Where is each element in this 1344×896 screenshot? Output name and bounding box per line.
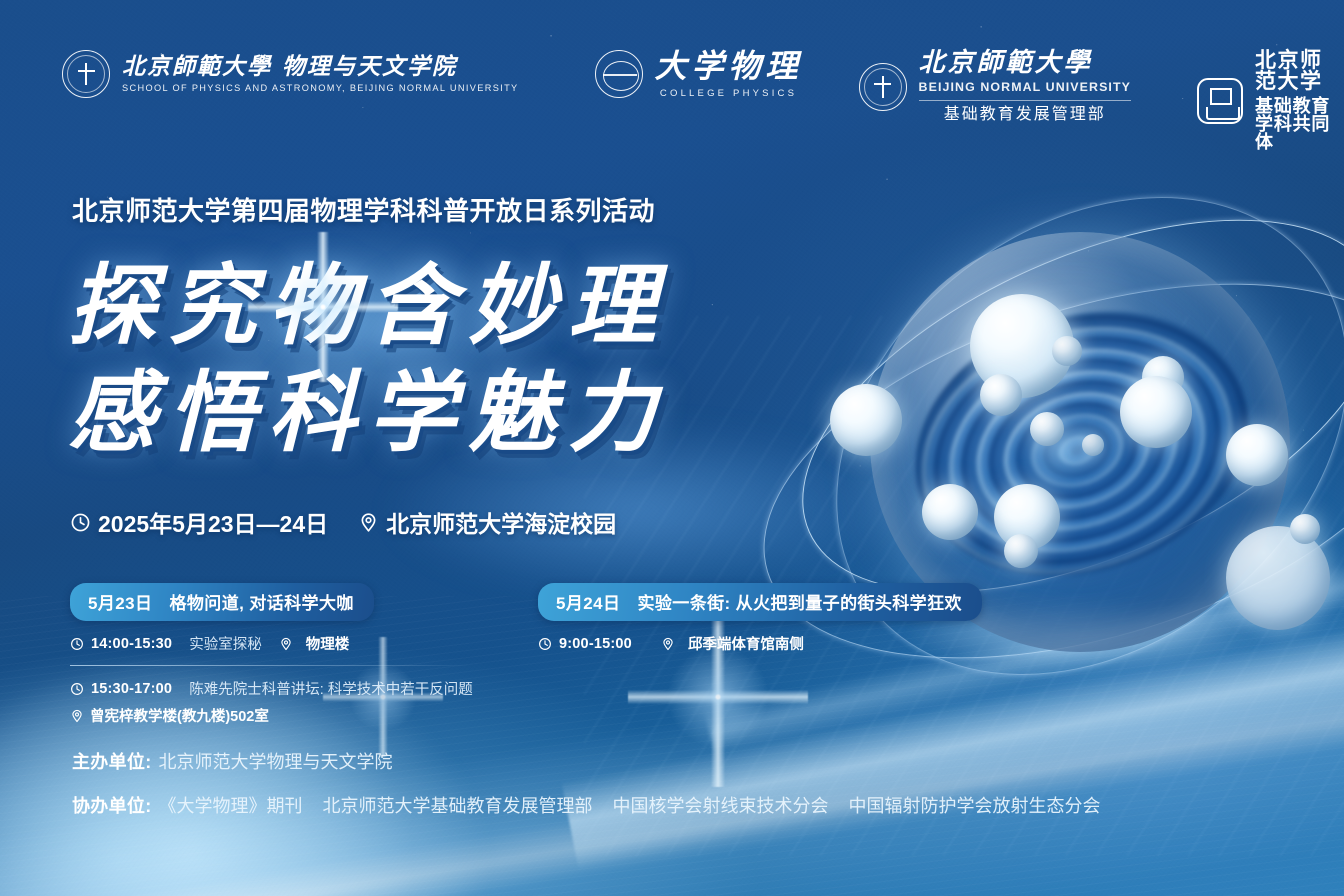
logo-cn-name: 北京师范大学 (1255, 50, 1344, 92)
schedule-day-2: 5月24日 实验一条街: 从火把到量子的街头科学狂欢 9:00-15:00 (538, 583, 1178, 726)
schedule-item: 14:00-15:30 实验室探秘 物理楼 (70, 633, 520, 654)
particle-sphere (980, 374, 1022, 416)
globe-seal-icon (595, 50, 643, 98)
schedule-divider (70, 665, 470, 666)
clock-icon (538, 637, 552, 651)
poster-canvas: 北京師範大學 物理与天文学院 SCHOOL OF PHYSICS AND AST… (0, 0, 1344, 896)
clock-icon (70, 512, 91, 533)
schedule-item-desc: 实验室探秘 (189, 633, 262, 654)
event-location-text: 北京师范大学海淀校园 (386, 505, 616, 539)
schedule-item: 15:30-17:00 陈难先院士科普讲坛: 科学技术中若干反问题 (70, 678, 520, 699)
schedule-item-place: 物理楼 (306, 633, 350, 654)
coorganizer-item: 中国辐射防护学会放射生态分会 (849, 796, 1101, 816)
logo-cn-name: 大学物理 (655, 50, 803, 82)
particle-sphere (1030, 412, 1064, 446)
coorganizer-value: 《大学物理》期刊北京师范大学基础教育发展管理部中国核学会射线束技术分会中国辐射防… (159, 792, 1101, 818)
schedule-section: 5月23日 格物问道, 对话科学大咖 14:00-15:30 实验室探秘 (70, 583, 1190, 726)
schedule-item-time: 14:00-15:30 (91, 636, 172, 652)
day-1-title: 格物问道, 对话科学大咖 (170, 594, 354, 613)
schedule-item-place: 曾宪梓教学楼(教九楼)502室 (90, 705, 269, 726)
logo-en-name: COLLEGE PHYSICS (655, 89, 803, 99)
university-seal-icon (859, 63, 907, 111)
particle-sphere (970, 294, 1074, 398)
sponsor-logo-bar: 北京師範大學 物理与天文学院 SCHOOL OF PHYSICS AND AST… (0, 50, 1344, 160)
logo-en-name: BEIJING NORMAL UNIVERSITY (919, 81, 1131, 93)
day-2-date: 5月24日 (556, 594, 620, 613)
schedule-item-desc: 陈难先院士科普讲坛: 科学技术中若干反问题 (189, 678, 473, 699)
location-pin-icon (70, 709, 84, 723)
schedule-item: 9:00-15:00 邱季端体育馆南侧 (538, 633, 1178, 654)
day-1-date: 5月23日 (88, 594, 152, 613)
event-location-group: 北京师范大学海淀校园 (358, 505, 616, 539)
logo-department-name: 基础教育发展管理部 (919, 100, 1131, 123)
clock-icon (70, 637, 84, 651)
schedule-item-time: 15:30-17:00 (91, 681, 172, 697)
coorganizer-item: 北京师范大学基础教育发展管理部 (323, 796, 593, 816)
logo-cn-name: 北京師範大學 (919, 50, 1131, 76)
schedule-item-place-row: 曾宪梓教学楼(教九楼)502室 (70, 705, 520, 726)
particle-sphere (1120, 376, 1192, 448)
event-time-location: 2025年5月23日—24日 北京师范大学海淀校园 (70, 505, 616, 539)
university-seal-icon (62, 50, 110, 98)
event-date-text: 2025年5月23日—24日 (98, 505, 328, 539)
clock-icon (70, 682, 84, 696)
coorganizer-label: 协办单位: (72, 792, 152, 818)
headline-line-1: 探究物含妙理 (68, 252, 868, 359)
particle-sphere (1082, 434, 1104, 456)
schedule-item-time: 9:00-15:00 (559, 636, 632, 652)
day-2-badge: 5月24日 实验一条街: 从火把到量子的街头科学狂欢 (538, 583, 982, 621)
event-date-group: 2025年5月23日—24日 (70, 505, 328, 539)
particle-sphere (1004, 534, 1038, 568)
logo-en-name: SCHOOL OF PHYSICS AND ASTRONOMY, BEIJING… (122, 84, 519, 93)
event-series-kicker: 北京师范大学第四届物理学科科普开放日系列活动 (72, 191, 655, 228)
main-headline: 探究物含妙理 感悟科学魅力 (68, 252, 868, 467)
host-row: 主办单位: 北京师范大学物理与天文学院 (72, 748, 1101, 774)
location-pin-icon (661, 637, 675, 651)
logo-school-of-physics-and-astronomy: 北京師範大學 物理与天文学院 SCHOOL OF PHYSICS AND AST… (62, 50, 519, 98)
coorganizer-item: 中国核学会射线束技术分会 (613, 796, 829, 816)
logo-beijing-normal-university: 北京師範大學 BEIJING NORMAL UNIVERSITY 基础教育发展管… (859, 50, 1131, 123)
day-1-badge: 5月23日 格物问道, 对话科学大咖 (70, 583, 374, 621)
organizer-footer: 主办单位: 北京师范大学物理与天文学院 协办单位: 《大学物理》期刊北京师范大学… (72, 748, 1101, 818)
coorganizer-row: 协办单位: 《大学物理》期刊北京师范大学基础教育发展管理部中国核学会射线束技术分… (72, 792, 1101, 818)
host-value: 北京师范大学物理与天文学院 (159, 748, 393, 774)
particle-sphere (922, 484, 978, 540)
vortex-swirl (881, 270, 1283, 618)
vortex-core-glow (998, 394, 1137, 507)
particle-sphere (994, 484, 1060, 550)
coorganizer-item: 《大学物理》期刊 (159, 796, 303, 816)
host-label: 主办单位: (72, 748, 152, 774)
schedule-item-place: 邱季端体育馆南侧 (688, 633, 804, 654)
particle-sphere (1052, 336, 1082, 366)
logo-bnu-basic-education-consortium: 北京师范大学 基础教育学科共同体 (1197, 50, 1344, 151)
book-square-icon (1197, 78, 1243, 124)
particle-sphere (1142, 356, 1184, 398)
logo-college-physics-journal: 大学物理 COLLEGE PHYSICS (595, 50, 803, 99)
logo-cn-subtitle: 基础教育学科共同体 (1255, 97, 1344, 151)
particle-sphere (1226, 526, 1330, 630)
particle-sphere (1226, 424, 1288, 486)
headline-line-2: 感悟科学魅力 (68, 359, 868, 466)
particle-sphere (1290, 514, 1320, 544)
day-2-title: 实验一条街: 从火把到量子的街头科学狂欢 (638, 594, 962, 613)
logo-cn-name: 北京師範大學 物理与天文学院 (122, 55, 519, 78)
schedule-day-1: 5月23日 格物问道, 对话科学大咖 14:00-15:30 实验室探秘 (70, 583, 520, 726)
location-pin-icon (279, 637, 293, 651)
location-pin-icon (358, 512, 379, 533)
